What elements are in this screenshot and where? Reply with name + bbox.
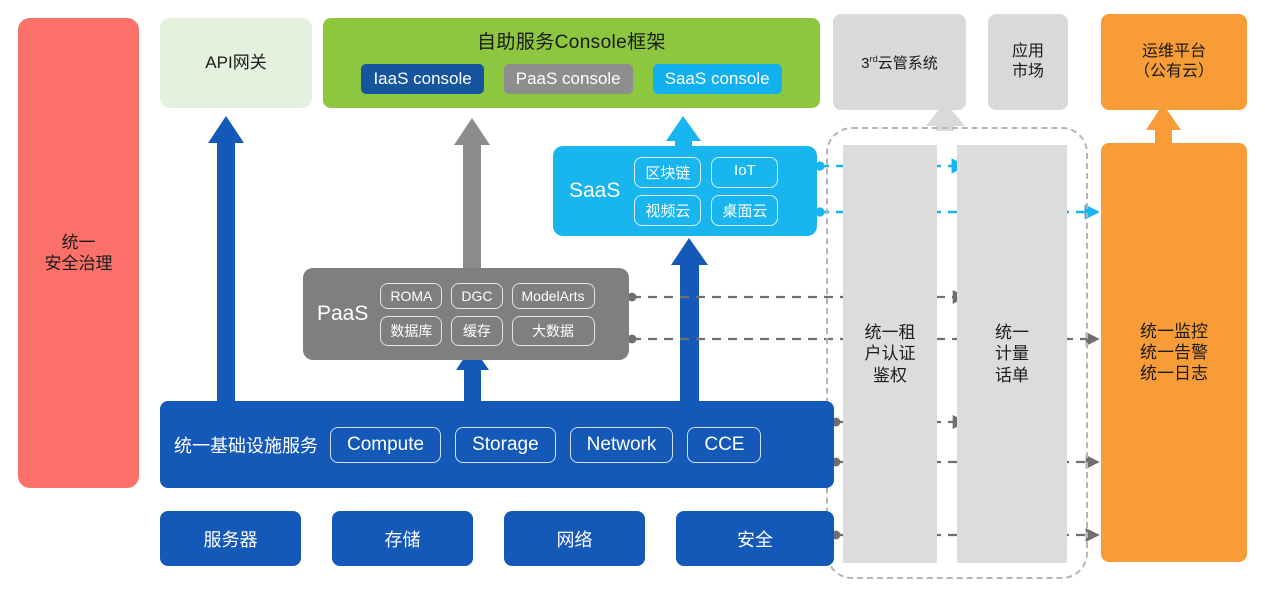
- api-gateway-box[interactable]: API网关: [160, 18, 312, 108]
- paas-service-dgc[interactable]: DGC: [451, 283, 502, 309]
- arrow-infra-to-api-gateway: [208, 116, 244, 401]
- app-market-label: 应用 市场: [1012, 42, 1044, 82]
- ops-platform-top-box[interactable]: 运维平台 （公有云）: [1101, 14, 1247, 110]
- resource-security[interactable]: 安全: [676, 511, 834, 566]
- console-framework-box[interactable]: 自助服务Console框架 IaaS console PaaS console …: [323, 18, 820, 108]
- iaas-console-chip[interactable]: IaaS console: [361, 64, 483, 94]
- saas-console-chip[interactable]: SaaS console: [653, 64, 782, 94]
- saas-layer-name: SaaS: [569, 179, 620, 203]
- paas-service-bigdata[interactable]: 大数据: [512, 316, 595, 346]
- arrow-saas-to-saas-console: [666, 116, 701, 148]
- paas-console-chip[interactable]: PaaS console: [504, 64, 633, 94]
- third-party-cloud-mgmt-box[interactable]: 3rd云管系统: [833, 14, 966, 110]
- paas-service-modelarts[interactable]: ModelArts: [512, 283, 595, 309]
- console-chip-row: IaaS console PaaS console SaaS console: [323, 64, 820, 94]
- saas-service-iot[interactable]: IoT: [711, 157, 778, 188]
- saas-service-blockchain[interactable]: 区块链: [634, 157, 701, 188]
- shared-column-metering[interactable]: 统一 计量 话单: [957, 145, 1067, 563]
- infrastructure-layer-name: 统一基础设施服务: [174, 432, 318, 458]
- paas-service-cache[interactable]: 缓存: [451, 316, 502, 346]
- architecture-diagram: 统一租 户认证 鉴权 统一 计量 话单 统一 安全治理 API网关 自助服务Co…: [0, 0, 1265, 605]
- security-governance-label: 统一 安全治理: [45, 232, 113, 275]
- security-governance-panel[interactable]: 统一 安全治理: [18, 18, 139, 488]
- paas-layer-box[interactable]: PaaS ROMA DGC ModelArts 数据库 缓存 大数据: [303, 268, 629, 360]
- saas-service-desktop-cloud[interactable]: 桌面云: [711, 195, 778, 226]
- arrow-shared-to-ops-top: [1146, 104, 1181, 145]
- console-framework-title: 自助服务Console框架: [323, 18, 820, 54]
- arrow-paas-to-console: [454, 118, 490, 268]
- infrastructure-layer-box[interactable]: 统一基础设施服务 Compute Storage Network CCE: [160, 401, 834, 488]
- infra-service-cce[interactable]: CCE: [687, 427, 761, 463]
- saas-service-video-cloud[interactable]: 视频云: [634, 195, 701, 226]
- arrow-infra-to-saas: [671, 238, 708, 401]
- third-party-cloud-mgmt-label: 3rd云管系统: [861, 52, 938, 73]
- api-gateway-label: API网关: [205, 52, 266, 73]
- infra-service-storage[interactable]: Storage: [455, 427, 556, 463]
- paas-service-roma[interactable]: ROMA: [380, 283, 442, 309]
- infra-service-compute[interactable]: Compute: [330, 427, 441, 463]
- infrastructure-service-row: Compute Storage Network CCE: [330, 427, 761, 463]
- saas-layer-box[interactable]: SaaS 区块链 IoT 视频云 桌面云: [553, 146, 817, 236]
- shared-column-auth[interactable]: 统一租 户认证 鉴权: [843, 145, 937, 563]
- saas-service-grid: 区块链 IoT 视频云 桌面云: [634, 157, 778, 226]
- infra-service-network[interactable]: Network: [570, 427, 674, 463]
- resource-network[interactable]: 网络: [504, 511, 645, 566]
- resource-server[interactable]: 服务器: [160, 511, 301, 566]
- ops-platform-top-label: 运维平台 （公有云）: [1134, 42, 1214, 82]
- paas-layer-name: PaaS: [317, 302, 368, 326]
- paas-service-grid: ROMA DGC ModelArts 数据库 缓存 大数据: [380, 283, 594, 346]
- shared-column-auth-label: 统一租 户认证 鉴权: [865, 322, 916, 386]
- ops-platform-panel[interactable]: 统一监控 统一告警 统一日志: [1101, 143, 1247, 562]
- app-market-box[interactable]: 应用 市场: [988, 14, 1068, 110]
- ops-platform-panel-label: 统一监控 统一告警 统一日志: [1140, 321, 1208, 385]
- shared-column-metering-label: 统一 计量 话单: [995, 322, 1029, 386]
- resource-storage[interactable]: 存储: [332, 511, 473, 566]
- paas-service-database[interactable]: 数据库: [380, 316, 442, 346]
